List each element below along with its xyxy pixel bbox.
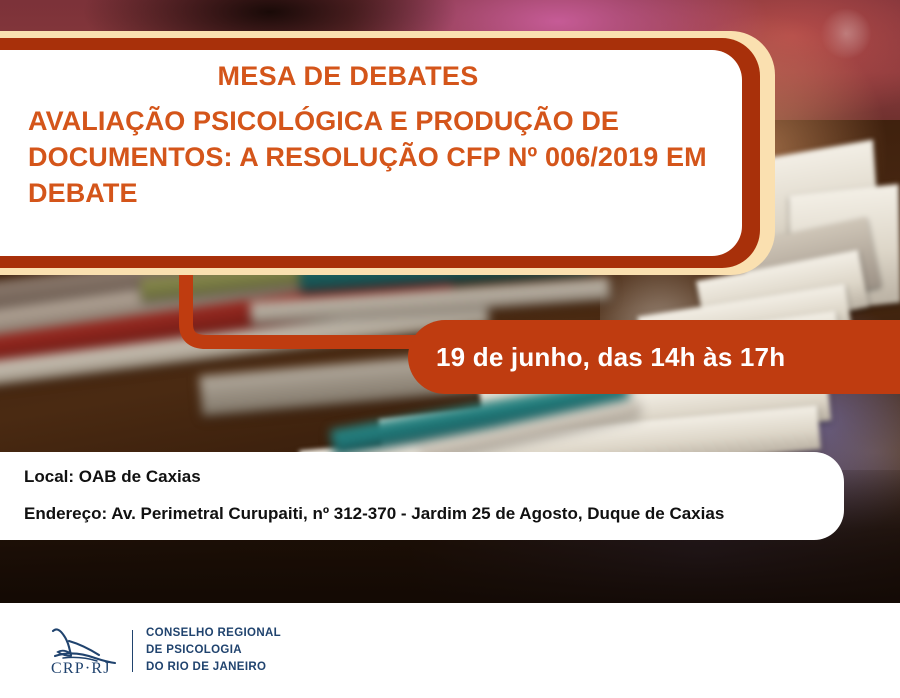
- organization-line-2: DE PSICOLOGIA: [146, 642, 281, 659]
- poster-footer: CRP·RJ CONSELHO REGIONAL DE PSICOLOGIA D…: [0, 603, 900, 698]
- event-poster: MESA DE DEBATES AVALIAÇÃO PSICOLÓGICA E …: [0, 0, 900, 698]
- organization-line-3: DO RIO DE JANEIRO: [146, 659, 281, 676]
- title-text-group: MESA DE DEBATES AVALIAÇÃO PSICOLÓGICA E …: [28, 62, 728, 211]
- title-card-border: MESA DE DEBATES AVALIAÇÃO PSICOLÓGICA E …: [0, 38, 760, 268]
- organization-line-1: CONSELHO REGIONAL: [146, 625, 281, 642]
- organization-name: CONSELHO REGIONAL DE PSICOLOGIA DO RIO D…: [146, 625, 281, 675]
- crprj-logo: CRP·RJ CONSELHO REGIONAL DE PSICOLOGIA D…: [47, 625, 281, 677]
- crprj-wordmark: CRP·RJ: [51, 660, 111, 678]
- logo-divider: [132, 630, 133, 672]
- title-card: MESA DE DEBATES AVALIAÇÃO PSICOLÓGICA E …: [0, 31, 775, 275]
- address-line: Endereço: Av. Perimetral Curupaiti, nº 3…: [24, 505, 844, 524]
- date-time-text: 19 de junho, das 14h às 17h: [408, 342, 785, 373]
- poster-kicker: MESA DE DEBATES: [28, 62, 728, 92]
- title-card-body: MESA DE DEBATES AVALIAÇÃO PSICOLÓGICA E …: [0, 50, 742, 256]
- poster-title: AVALIAÇÃO PSICOLÓGICA E PRODUÇÃO DE DOCU…: [28, 104, 728, 212]
- venue-line: Local: OAB de Caxias: [24, 468, 844, 487]
- crprj-bird-icon: CRP·RJ: [47, 625, 123, 677]
- venue-info-box: Local: OAB de Caxias Endereço: Av. Perim…: [0, 452, 844, 540]
- date-time-banner: 19 de junho, das 14h às 17h: [408, 320, 900, 394]
